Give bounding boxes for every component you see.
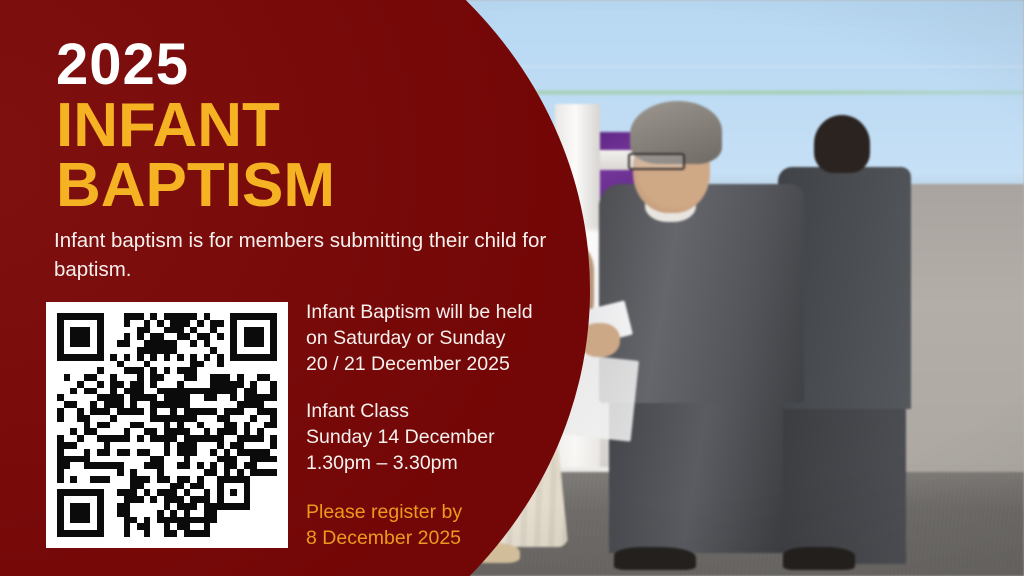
event-line-2: on Saturday or Sunday bbox=[306, 326, 576, 352]
headline-line-1: INFANT bbox=[56, 91, 280, 160]
registration-deadline: Please register by 8 December 2025 bbox=[306, 500, 576, 552]
year-heading: 2025 bbox=[56, 36, 189, 94]
registration-qr-code[interactable] bbox=[46, 302, 288, 548]
register-line-1: Please register by bbox=[306, 500, 576, 526]
class-line-1: Infant Class bbox=[306, 399, 576, 425]
page-title: INFANT BAPTISM bbox=[56, 96, 335, 216]
poster-content: 2025 INFANT BAPTISM Infant baptism is fo… bbox=[0, 0, 1024, 576]
headline-line-2: BAPTISM bbox=[56, 156, 335, 216]
event-line-3: 20 / 21 December 2025 bbox=[306, 352, 576, 378]
description-text: Infant baptism is for members submitting… bbox=[54, 226, 574, 284]
qr-modules bbox=[57, 313, 277, 537]
register-line-2: 8 December 2025 bbox=[306, 526, 576, 552]
event-line-1: Infant Baptism will be held bbox=[306, 300, 576, 326]
class-line-2: Sunday 14 December bbox=[306, 425, 576, 451]
infant-baptism-poster: 2025 INFANT BAPTISM Infant baptism is fo… bbox=[0, 0, 1024, 576]
class-line-3: 1.30pm – 3.30pm bbox=[306, 451, 576, 477]
event-details: Infant Baptism will be held on Saturday … bbox=[306, 300, 576, 378]
class-details: Infant Class Sunday 14 December 1.30pm –… bbox=[306, 399, 576, 477]
